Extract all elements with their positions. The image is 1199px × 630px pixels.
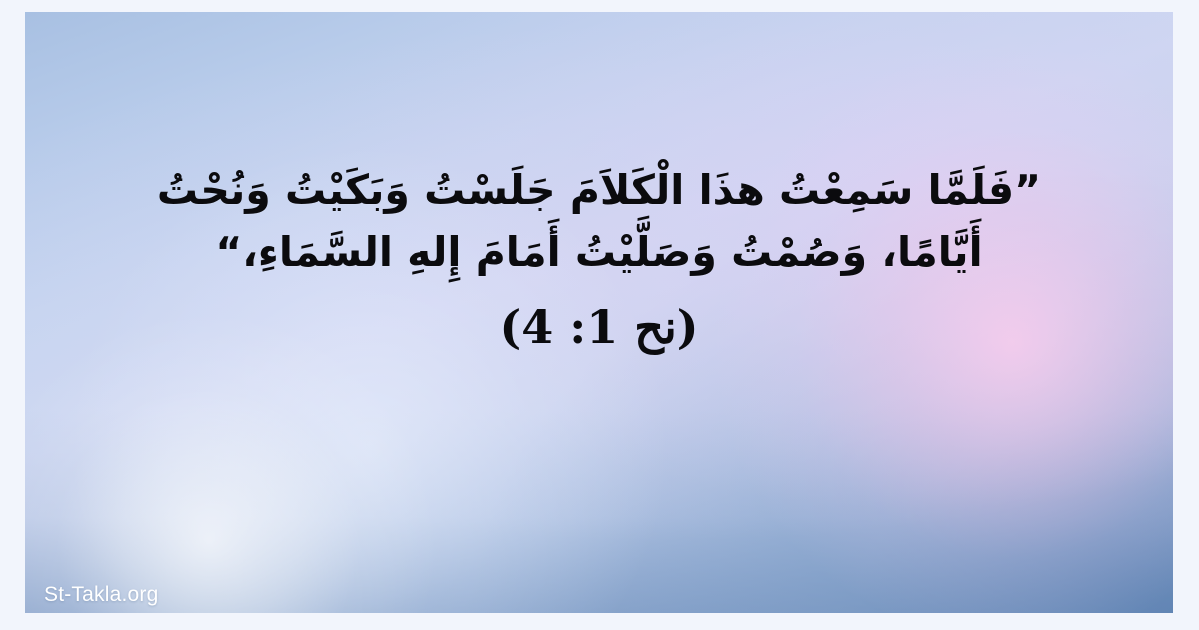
image-canvas: ”فَلَمَّا سَمِعْتُ هذَا الْكَلاَمَ جَلَس… — [0, 0, 1199, 630]
background-photo — [25, 12, 1173, 613]
site-watermark: St-Takla.org — [44, 583, 158, 607]
